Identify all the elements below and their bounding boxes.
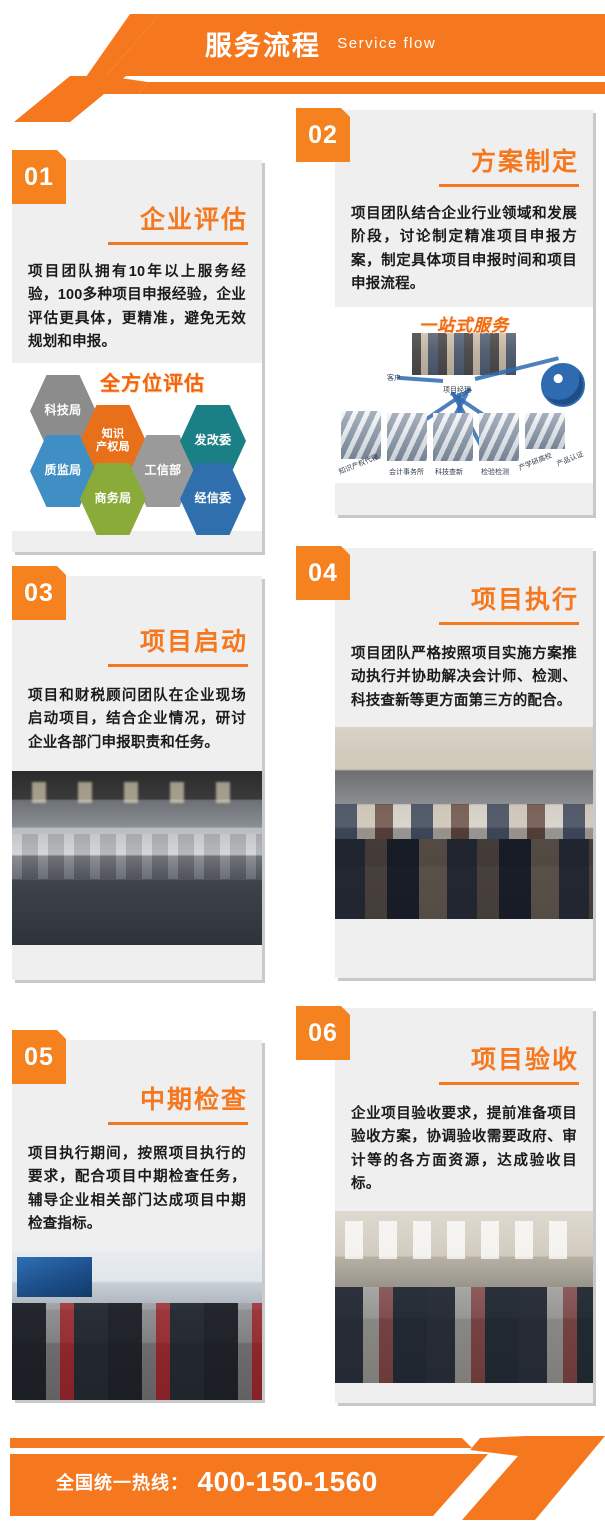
card-badge-03: 03 [12, 566, 66, 620]
card-photo-05 [12, 1251, 262, 1400]
service-node-photo-5 [525, 413, 565, 449]
service-client-label: 客户 [387, 373, 401, 383]
card-badge-01: 01 [12, 150, 66, 204]
service-node-photo-3 [433, 413, 473, 461]
card-badge-04: 04 [296, 546, 350, 600]
service-node-label-5: 产学研高校 [517, 451, 553, 473]
card-body-04: 项目团队严格按照项目实施方案推动执行并协助解决会计师、检测、科技查新等更方面第三… [335, 643, 593, 713]
card-body-02: 项目团队结合企业行业领域和发展阶段，讨论制定精准项目申报方案，制定具体项目申报时… [335, 203, 593, 297]
service-diagram-hub-photo [412, 333, 516, 375]
card-body-03: 项目和财税顾问团队在企业现场启动项目，结合企业情况，研讨企业各部门申报职责和任务… [12, 685, 262, 755]
process-card-04[interactable]: 项目执行 项目团队严格按照项目实施方案推动执行并协助解决会计师、检测、科技查新等… [335, 548, 593, 978]
card-badge-05: 05 [12, 1030, 66, 1084]
card-photo-06 [335, 1211, 593, 1383]
process-card-03[interactable]: 项目启动 项目和财税顾问团队在企业现场启动项目，结合企业情况，研讨企业各部门申报… [12, 576, 262, 980]
service-node-photo-4 [479, 413, 519, 461]
card-body-06: 企业项目验收要求，提前准备项目验收方案，协调验收需要政府、审计等的各方面资源，达… [335, 1103, 593, 1197]
page-title: 服务流程 [205, 31, 321, 61]
card-title-03: 项目启动 [12, 622, 262, 658]
card-title-01: 企业评估 [12, 200, 262, 236]
card-title-06: 项目验收 [335, 1040, 593, 1076]
service-node-label-6: 产品认证 [555, 449, 585, 469]
service-node-label-4: 检验检测 [481, 467, 509, 477]
service-diagram-title: 一站式服务 [335, 311, 593, 336]
process-card-02[interactable]: 方案制定 项目团队结合企业行业领域和发展阶段，讨论制定精准项目申报方案，制定具体… [335, 110, 593, 515]
page-header: 服务流程 Service flow [0, 0, 605, 120]
hotline-label: 全国统一热线： [56, 1473, 189, 1493]
page-subtitle: Service flow [337, 35, 436, 52]
service-diagram: 一站式服务 客户 项目经理 知识产权代理 会计事务所 科技查新 检验检测 产学研… [335, 307, 593, 483]
process-card-06[interactable]: 项目验收 企业项目验收要求，提前准备项目验收方案，协调验收需要政府、审计等的各方… [335, 1008, 593, 1403]
header-title-group: 服务流程 Service flow [0, 24, 605, 63]
service-manager-label: 项目经理 [443, 385, 471, 395]
iso-seal-icon [541, 363, 585, 407]
service-node-photo-2 [387, 413, 427, 461]
process-card-01[interactable]: 企业评估 项目团队拥有10年以上服务经验，100多种项目申报经验，企业评估更具体… [12, 160, 262, 552]
service-node-label-2: 会计事务所 [389, 467, 424, 477]
card-photo-04 [335, 727, 593, 919]
hex-diagram: 全方位评估 科技局 知识产权局 质监局 工信部 商务局 发改委 经信委 [12, 363, 262, 531]
service-node-label-3: 科技查新 [435, 467, 463, 477]
page-footer: 全国统一热线： 400-150-1560 [0, 1418, 605, 1538]
hex-node-zhishi-label: 知识产权局 [96, 428, 130, 453]
card-body-05: 项目执行期间，按照项目执行的要求，配合项目中期检查任务，辅导企业相关部门达成项目… [12, 1143, 262, 1237]
hotline-number[interactable]: 400-150-1560 [197, 1466, 377, 1497]
process-card-05[interactable]: 中期检查 项目执行期间，按照项目执行的要求，配合项目中期检查任务，辅导企业相关部… [12, 1040, 262, 1400]
hotline-group: 全国统一热线： 400-150-1560 [56, 1466, 378, 1498]
card-photo-03 [12, 771, 262, 945]
service-arrow-1 [397, 376, 443, 383]
card-badge-06: 06 [296, 1006, 350, 1060]
hex-diagram-title: 全方位评估 [100, 367, 205, 396]
card-badge-02: 02 [296, 108, 350, 162]
card-body-01: 项目团队拥有10年以上服务经验，100多种项目申报经验，企业评估更具体，更精准，… [12, 261, 262, 355]
card-title-05: 中期检查 [12, 1080, 262, 1116]
card-title-04: 项目执行 [335, 580, 593, 616]
card-title-02: 方案制定 [335, 142, 593, 178]
